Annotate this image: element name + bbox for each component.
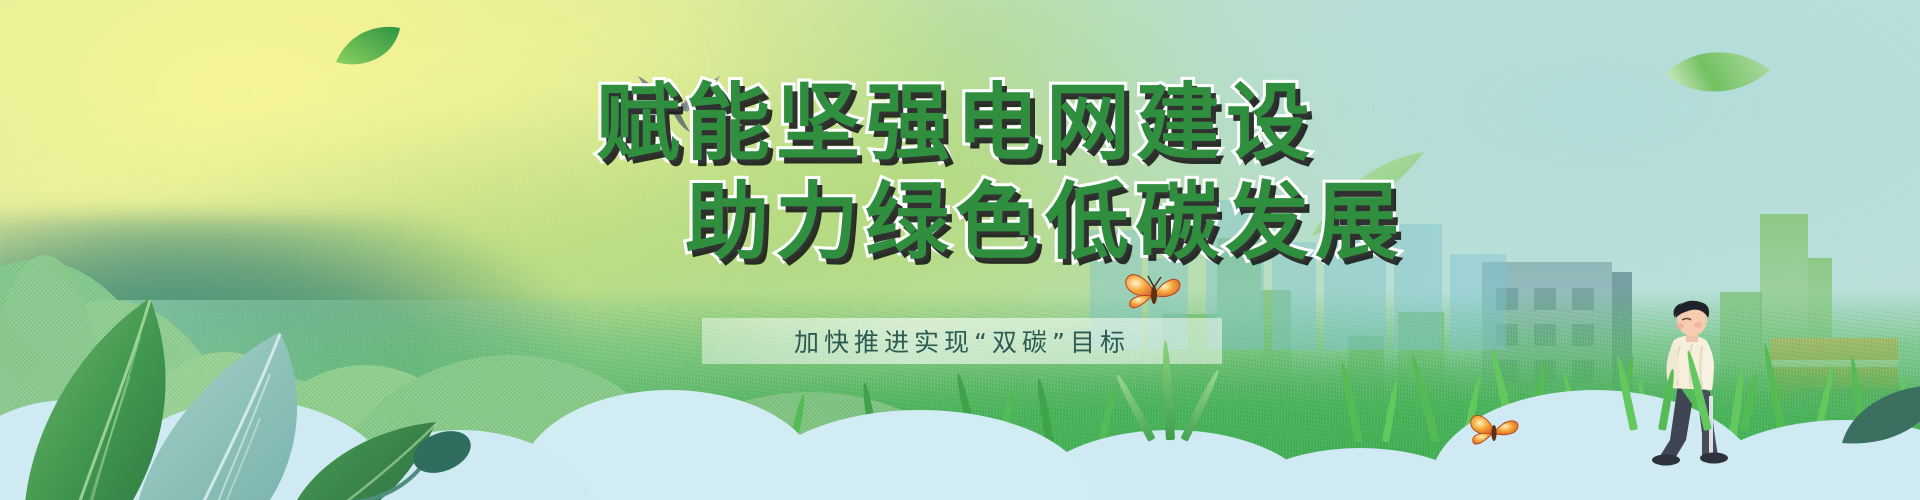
tuft-blade: [1161, 340, 1175, 440]
banner-root: 赋能坚强电网建设 助力绿色低碳发展 加快推进实现“双碳”目标: [0, 0, 1920, 500]
butterfly-right-icon: [1468, 410, 1520, 459]
grass-blade: [1614, 355, 1638, 431]
title-line-1: 赋能坚强电网建设: [0, 74, 1920, 173]
grass-blade: [1658, 368, 1677, 430]
grass-blade: [1740, 372, 1760, 430]
grass-front-person: [1600, 340, 1820, 430]
leaf-top-left-icon: [332, 22, 404, 75]
cloud-blob: [750, 410, 1090, 500]
banner-title: 赋能坚强电网建设 助力绿色低碳发展: [0, 74, 1920, 272]
stem-leaf: [356, 426, 476, 500]
butterfly-center-icon: [1124, 268, 1182, 323]
leaf-right-cloud: [1838, 381, 1920, 456]
title-line-2: 助力绿色低碳发展: [170, 173, 1920, 272]
grass-blade: [1684, 349, 1712, 430]
grass-tuft-center: [1140, 330, 1210, 440]
subtitle-text: 加快推进实现“双碳”目标: [794, 323, 1130, 359]
